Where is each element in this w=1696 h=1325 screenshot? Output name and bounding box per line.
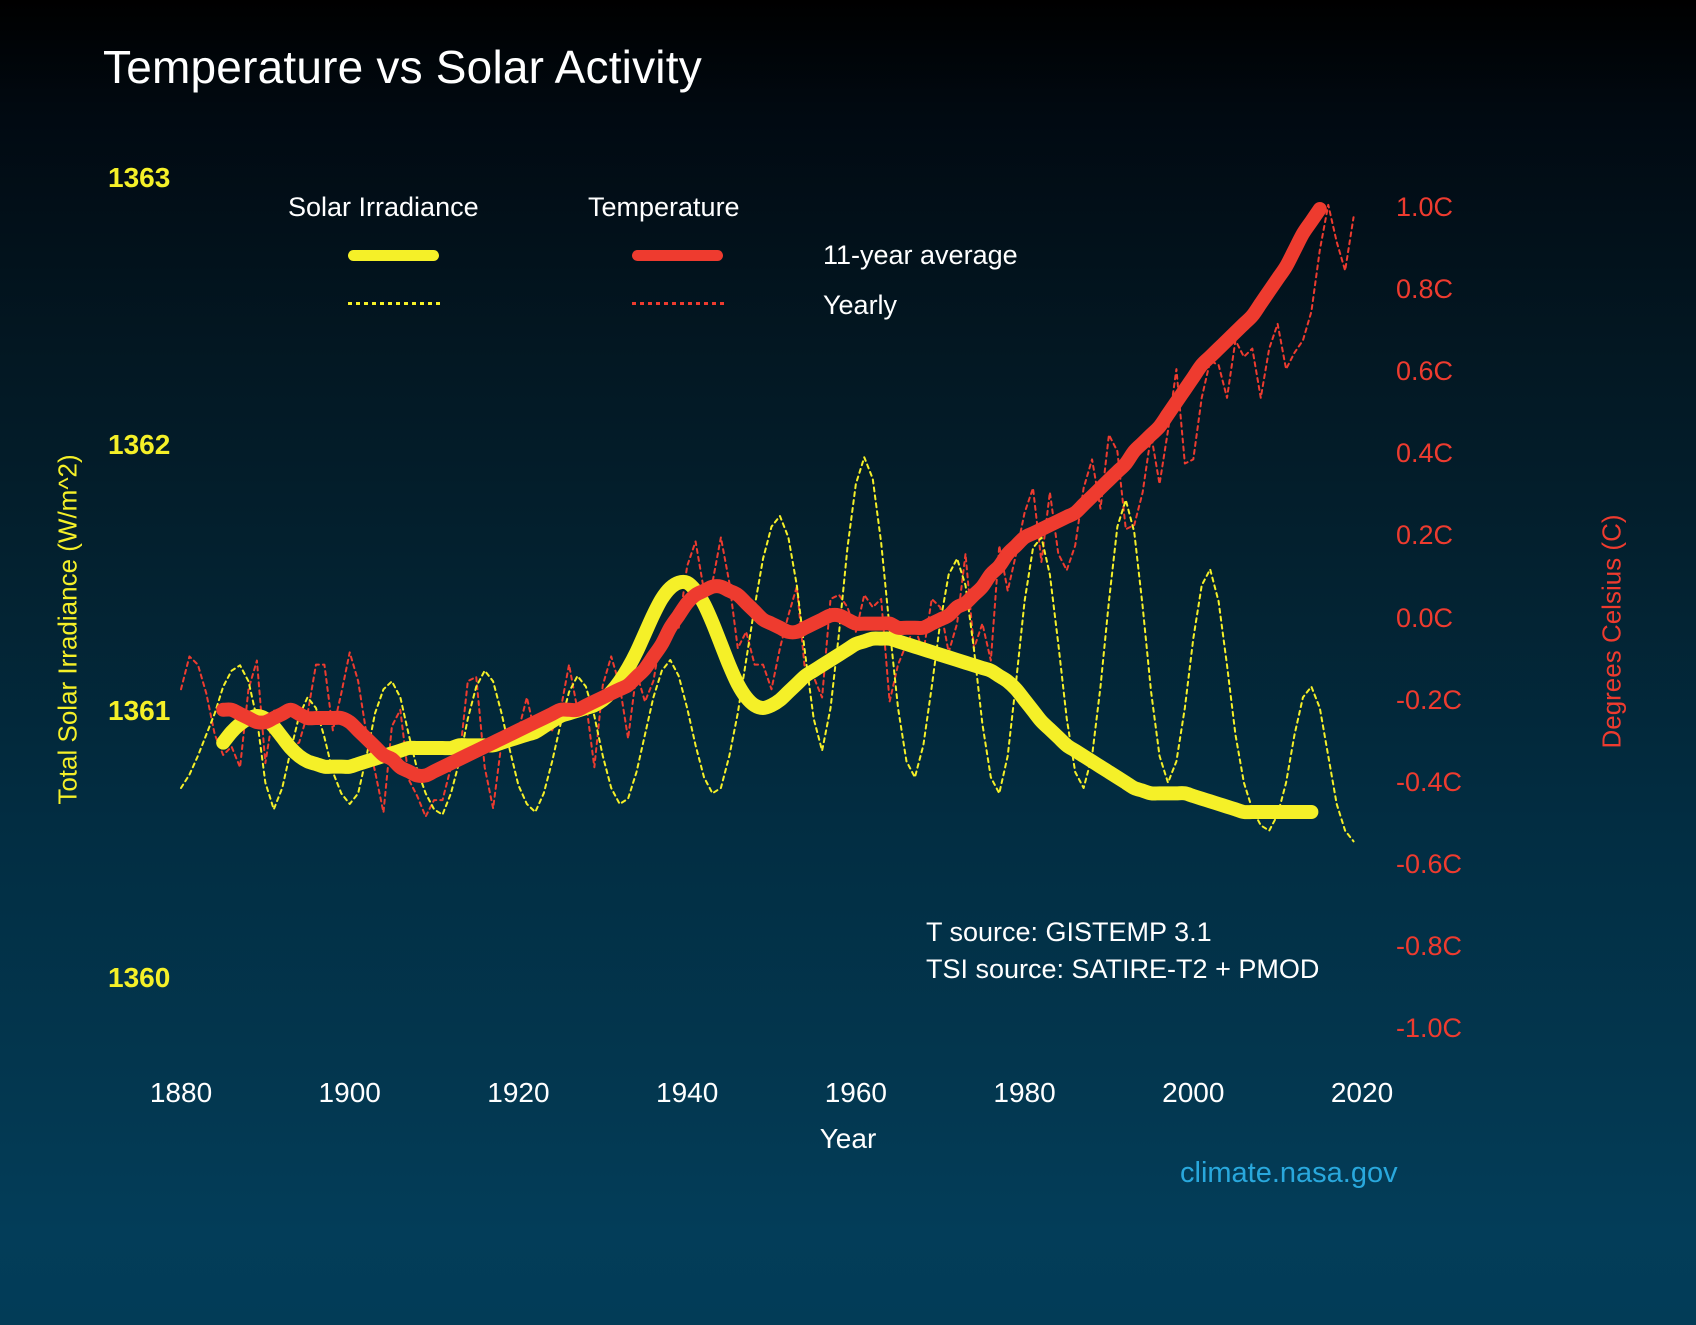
y-axis-right-title: Degrees Celsius (C)	[1597, 422, 1628, 842]
y-right-tick-04C: 0.4C	[1396, 438, 1453, 469]
y-left-tick-1361: 1361	[108, 695, 170, 727]
y-right-tick-00C: 0.0C	[1396, 603, 1453, 634]
x-tick-1980: 1980	[993, 1077, 1055, 1109]
x-axis-title: Year	[0, 1123, 1696, 1155]
y-right-tick-04C: -0.4C	[1396, 767, 1462, 798]
x-tick-1900: 1900	[319, 1077, 381, 1109]
y-right-tick-02C: -0.2C	[1396, 685, 1462, 716]
y-right-tick-02C: 0.2C	[1396, 520, 1453, 551]
y-axis-left-title: Total Solar Irradiance (W/m^2)	[53, 420, 84, 840]
watermark-link[interactable]: climate.nasa.gov	[1180, 1157, 1398, 1190]
series-solar-irradiance-yearly	[181, 457, 1354, 841]
x-tick-1880: 1880	[150, 1077, 212, 1109]
y-left-tick-1363: 1363	[108, 162, 170, 194]
y-right-tick-06C: 0.6C	[1396, 356, 1453, 387]
x-tick-1960: 1960	[825, 1077, 887, 1109]
y-right-tick-10C: 1.0C	[1396, 192, 1453, 223]
x-tick-2000: 2000	[1162, 1077, 1224, 1109]
y-right-tick-08C: -0.8C	[1396, 931, 1462, 962]
x-tick-1940: 1940	[656, 1077, 718, 1109]
y-right-tick-10C: -1.0C	[1396, 1013, 1462, 1044]
y-right-tick-08C: 0.8C	[1396, 274, 1453, 305]
chart-canvas: Temperature vs Solar Activity Solar Irra…	[0, 0, 1696, 1325]
source-line-tsi: TSI source: SATIRE-T2 + PMOD	[926, 951, 1319, 988]
source-annotation: T source: GISTEMP 3.1 TSI source: SATIRE…	[926, 914, 1319, 987]
x-tick-1920: 1920	[487, 1077, 549, 1109]
y-right-tick-06C: -0.6C	[1396, 849, 1462, 880]
series-temperature-11-year-average	[223, 209, 1320, 776]
y-left-tick-1360: 1360	[108, 962, 170, 994]
y-left-tick-1362: 1362	[108, 429, 170, 461]
source-line-temperature: T source: GISTEMP 3.1	[926, 914, 1319, 951]
x-tick-2020: 2020	[1331, 1077, 1393, 1109]
